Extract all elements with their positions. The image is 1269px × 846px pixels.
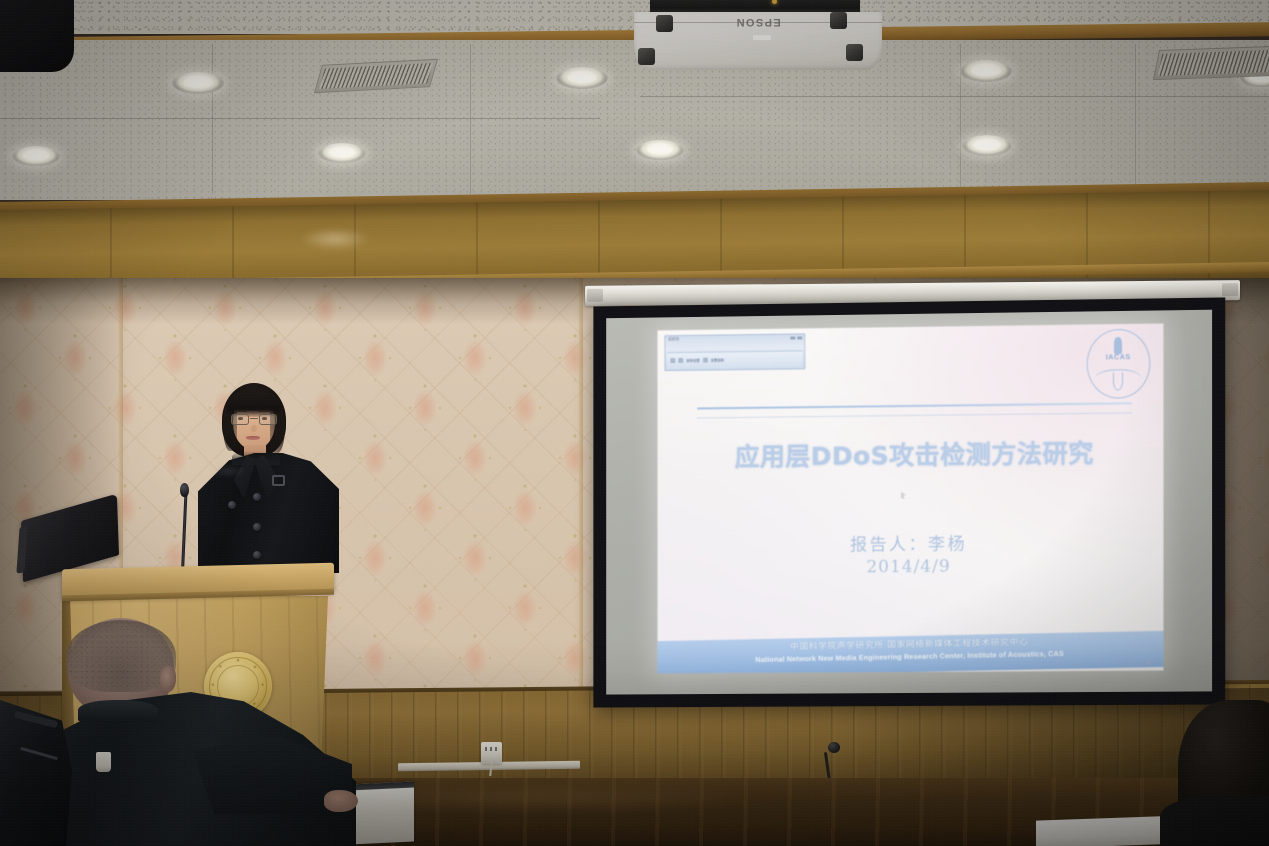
logo-torch-shape bbox=[1114, 337, 1122, 354]
outlet-slots bbox=[485, 747, 498, 751]
microphone-icon bbox=[180, 483, 189, 497]
black-bag bbox=[0, 700, 72, 846]
projector-brand-label: EPSON bbox=[735, 16, 781, 28]
glasses-lens bbox=[231, 414, 249, 425]
audience-shoulder bbox=[1160, 796, 1269, 846]
ceiling-downlight bbox=[318, 143, 366, 163]
toolbar-button-row[interactable]: 放映设置 设置放映 bbox=[667, 350, 802, 369]
coat-button bbox=[253, 493, 261, 501]
toolbar-undo-icon[interactable] bbox=[703, 358, 708, 363]
ceiling-projector: EPSON bbox=[622, 0, 894, 80]
slide-number: 1 bbox=[1146, 659, 1150, 666]
wall-power-outlet[interactable] bbox=[481, 742, 502, 764]
toolbar-item-label[interactable]: 设置放映 bbox=[711, 358, 724, 363]
presenter-mouth bbox=[246, 436, 260, 440]
wall-cable-grommet bbox=[828, 742, 840, 753]
coat-button bbox=[253, 551, 261, 559]
ceiling-downlight bbox=[960, 60, 1012, 82]
glasses-bridge bbox=[250, 418, 258, 419]
wallpaper-seam bbox=[578, 278, 583, 703]
roller-endcap bbox=[587, 289, 603, 302]
ceiling-downlight bbox=[636, 140, 684, 160]
coat-button bbox=[228, 501, 236, 509]
projector-mount-foot bbox=[830, 12, 847, 29]
projector-mount-foot bbox=[846, 44, 863, 61]
ceiling-tile-line bbox=[470, 44, 471, 194]
ceiling-downlight bbox=[12, 146, 60, 166]
presentation-toolbar-overlay[interactable]: 幻灯片 放映设置 设置放映 bbox=[665, 333, 806, 371]
presenter-speaker bbox=[196, 383, 341, 573]
bag-zipper bbox=[20, 747, 57, 760]
screen-black-border: 幻灯片 放映设置 设置放映 IA bbox=[593, 297, 1225, 707]
coat-button bbox=[253, 523, 261, 531]
valance-highlight bbox=[300, 228, 370, 250]
presenter-eyebrow bbox=[258, 410, 271, 412]
slide-presenter-line: 报告人：李杨 bbox=[657, 528, 1163, 557]
ceiling-seam bbox=[640, 96, 1269, 97]
hvac-vent bbox=[1153, 46, 1269, 80]
toolbar-item-label[interactable]: 放映设置 bbox=[686, 358, 699, 363]
audience-member-front bbox=[26, 618, 356, 846]
audience-hand bbox=[324, 790, 358, 812]
presenter-eyebrow bbox=[234, 410, 247, 412]
projector-mount-foot bbox=[656, 15, 673, 32]
roller-endcap bbox=[1222, 283, 1238, 296]
coat-buckle bbox=[272, 475, 285, 486]
ceiling-downlight bbox=[962, 135, 1012, 156]
logo-acronym: IACAS bbox=[1086, 354, 1150, 362]
coat-highlight bbox=[210, 465, 246, 477]
toolbar-play-icon[interactable] bbox=[670, 358, 675, 363]
slide-title: 应用层DDoS攻击检测方法研究 bbox=[697, 433, 1132, 474]
projector-mount-foot bbox=[638, 48, 655, 65]
eyeglasses-icon bbox=[230, 414, 278, 425]
toolbar-pointer-icon[interactable] bbox=[678, 358, 683, 363]
paper-cup bbox=[96, 752, 111, 772]
iacas-institute-logo-icon: IACAS bbox=[1086, 329, 1150, 399]
audience-ear bbox=[160, 666, 176, 692]
toolbar-title: 幻灯片 bbox=[668, 337, 679, 342]
projection-screen: 幻灯片 放映设置 设置放映 IA bbox=[585, 283, 1240, 713]
toolbar-window-buttons[interactable] bbox=[790, 336, 802, 340]
presenter-nose bbox=[251, 425, 257, 432]
slide-date: 2014/4/9 bbox=[657, 554, 1163, 578]
ceiling-downlight bbox=[172, 72, 224, 94]
jacket-collar bbox=[78, 700, 158, 722]
ceiling-seam bbox=[0, 118, 600, 119]
glasses-lens bbox=[259, 414, 277, 425]
ceiling-fixture-dark bbox=[0, 0, 74, 72]
screen-surface: 幻灯片 放映设置 设置放映 IA bbox=[606, 310, 1212, 695]
audience-member-right bbox=[1178, 700, 1269, 846]
ceiling-tile-line bbox=[1135, 44, 1136, 194]
projector-sticker bbox=[753, 35, 771, 40]
ceiling-downlight bbox=[556, 67, 608, 89]
projected-slide: 幻灯片 放映设置 设置放映 IA bbox=[657, 324, 1163, 674]
lecture-hall-photo: EPSON bbox=[0, 0, 1269, 846]
ceiling-tile-line bbox=[212, 44, 213, 194]
